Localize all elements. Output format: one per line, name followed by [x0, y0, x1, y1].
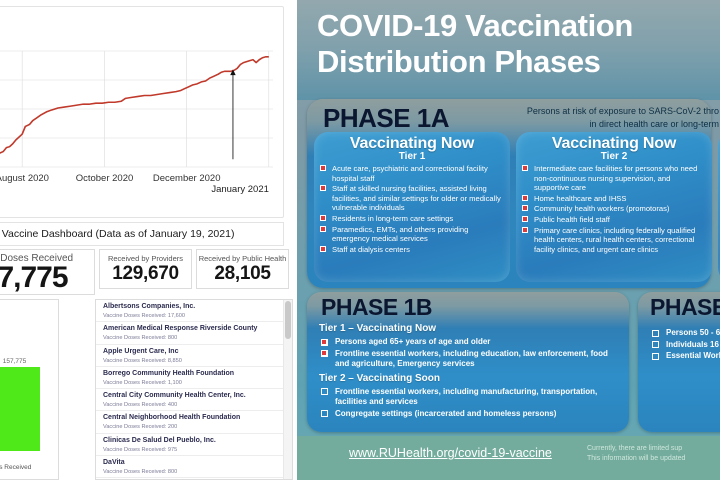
checked-checkbox-icon [320, 185, 326, 191]
checklist-item: Acute care, psychiatric and correctional… [320, 164, 505, 183]
provider-doses: Vaccine Doses Received: 8,850 [103, 357, 279, 365]
provider-name: DaVita [103, 458, 279, 467]
phase-1b-tier2-heading: Tier 2 – Vaccinating Soon [319, 372, 629, 385]
checklist-item: Congregate settings (incarcerated and ho… [321, 409, 621, 420]
tier1-subheading: Tier 1 [314, 151, 510, 162]
list-item[interactable]: Central City Community Health Center, In… [96, 389, 284, 411]
list-item[interactable]: Borrego Community Health Foundation Vacc… [96, 367, 284, 389]
provider-doses: Vaccine Doses Received: 400 [103, 401, 279, 409]
poster-title-line2: Distribution Phases [317, 44, 714, 80]
footer-note-line1: Currently, there are limited sup [587, 444, 685, 454]
kpi-received-by-providers: Received by Providers 129,670 [99, 249, 192, 289]
unchecked-checkbox-icon [652, 341, 659, 348]
checklist-item-label: Congregate settings (incarcerated and ho… [335, 409, 556, 418]
chart-line-series [0, 57, 269, 154]
x-tick-label: August 2020 [0, 173, 49, 184]
phase-1b-tier1-checklist: Persons aged 65+ years of age and older … [307, 337, 629, 370]
scrollbar-thumb[interactable] [285, 301, 291, 339]
phase-1a-card: PHASE 1A Persons at risk of exposure to … [307, 99, 711, 288]
provider-name: Borrego Community Health Foundation [103, 369, 279, 378]
checklist-item: Staff at dialysis centers [320, 245, 505, 255]
checklist-item-label: Frontline essential workers, including e… [335, 349, 608, 369]
phase-1a-tier2-box: Vaccinating Now Tier 2 Intermediate care… [516, 132, 712, 282]
bar-value-label: 157,775 [3, 358, 27, 365]
list-item[interactable]: DaVita Vaccine Doses Received: 800 [96, 456, 284, 478]
checked-checkbox-icon [320, 165, 326, 171]
checked-checkbox-icon [522, 165, 528, 171]
list-item[interactable]: Central Neighborhood Health Foundation V… [96, 411, 284, 433]
unchecked-checkbox-icon [652, 353, 659, 360]
checked-checkbox-icon [522, 205, 528, 211]
checklist-item: Public health field staff [522, 215, 707, 225]
checklist-item-label: Frontline essential workers, including m… [335, 387, 597, 407]
phase-1a-title: PHASE 1A [323, 103, 449, 134]
list-item[interactable]: Apple Urgent Care, Inc Vaccine Doses Rec… [96, 345, 284, 367]
vaccine-info-link[interactable]: www.RUHealth.org/covid-19-vaccine [349, 446, 552, 460]
checked-checkbox-icon [321, 339, 328, 346]
checklist-item: Persons aged 65+ years of age and older [321, 337, 621, 348]
bar-rect [0, 367, 40, 451]
x-tick-label: December 2020 [153, 173, 221, 184]
provider-name: Clinicas De Salud Del Pueblo, Inc. [103, 436, 279, 445]
checklist-item-label: Intermediate care facilities for persons… [534, 164, 697, 192]
kpi-value: 7,775 [0, 261, 94, 295]
kpi-value: 28,105 [197, 263, 288, 285]
phase-1b-title: PHASE 1B [321, 294, 432, 321]
trend-chart-card: e [0, 6, 284, 218]
poster-title: COVID-19 Vaccination Distribution Phases [317, 8, 714, 80]
provider-doses: Vaccine Doses Received: 800 [103, 334, 279, 342]
poster-footer-note: Currently, there are limited sup This in… [587, 444, 685, 464]
checklist-item-label: Persons 50 - 64 ye [666, 328, 720, 337]
checklist-item-label: Essential Workers energy, chemical commu… [666, 351, 720, 360]
checklist-item-label: Persons aged 65+ years of age and older [335, 337, 490, 346]
provider-list-card[interactable]: Albertsons Companies, Inc. Vaccine Doses… [95, 299, 293, 480]
checklist-item: Intermediate care facilities for persons… [522, 164, 707, 193]
list-item[interactable]: Clinicas De Salud Del Pueblo, Inc. Vacci… [96, 434, 284, 456]
provider-name: Central Neighborhood Health Foundation [103, 413, 279, 422]
checked-checkbox-icon [320, 246, 326, 252]
poster-footer: www.RUHealth.org/covid-19-vaccine Curren… [297, 436, 720, 480]
footer-note-line2: This information will be updated [587, 454, 685, 464]
list-item[interactable]: American Medical Response Riverside Coun… [96, 322, 284, 344]
kpi-value: 129,670 [100, 263, 191, 285]
chart-annotation-arrow [230, 69, 235, 159]
checklist-item-label: Individuals 16 - 6 health condition seve… [666, 340, 720, 349]
checklist-item-label: Residents in long-term care settings [332, 214, 453, 223]
chart-plot-area [0, 51, 273, 167]
checklist-item: Residents in long-term care settings [320, 214, 505, 224]
provider-doses: Vaccine Doses Received: 17,600 [103, 312, 279, 320]
checklist-item: Individuals 16 - 6 health condition seve… [652, 340, 720, 351]
checklist-item-label: Paramedics, EMTs, and others providing e… [332, 225, 468, 244]
dashboard-subtitle: 9 Vaccine Dashboard (Data as of January … [0, 228, 234, 240]
provider-doses: Vaccine Doses Received: 975 [103, 446, 279, 454]
phase-1c-card: PHASE 1C Persons 50 - 64 ye Individuals … [638, 292, 720, 432]
checklist-item: Primary care clinics, including federall… [522, 226, 707, 255]
provider-name: Apple Urgent Care, Inc [103, 347, 279, 356]
kpi-received-by-public-health: Received by Public Health 28,105 [196, 249, 289, 289]
provider-list-scrollbar[interactable] [283, 300, 292, 479]
checklist-item-label: Acute care, psychiatric and correctional… [332, 164, 488, 183]
phase-1a-description: Persons at risk of exposure to SARS-CoV-… [479, 105, 719, 131]
provider-doses: Vaccine Doses Received: 800 [103, 468, 279, 476]
screenshot-root: e [0, 0, 720, 480]
bar-axis-caption: ne Doses Received [0, 464, 31, 471]
chart-x-axis: August 2020 October 2020 December 2020 J… [0, 173, 273, 189]
chart-svg [0, 51, 273, 167]
vaccine-dashboard-panel: e [0, 0, 297, 480]
checklist-item-label: Home healthcare and IHSS [534, 194, 626, 203]
chart-annotation-label: January 2021 [211, 184, 269, 195]
list-item[interactable]: Albertsons Companies, Inc. Vaccine Doses… [96, 300, 284, 322]
provider-name: Central City Community Health Center, In… [103, 391, 279, 400]
kpi-total-doses: e Doses Received 7,775 [0, 249, 95, 295]
checklist-item-label: Public health field staff [534, 215, 610, 224]
provider-doses: Vaccine Doses Received: 1,100 [103, 379, 279, 387]
checklist-item-label: Primary care clinics, including federall… [534, 226, 695, 254]
tier2-subheading: Tier 2 [516, 151, 712, 162]
doses-bar-chart-card: 157,775 ne Doses Received [0, 299, 59, 480]
kpi-label: Received by Providers [100, 254, 191, 263]
phase-1b-tier1-heading: Tier 1 – Vaccinating Now [319, 322, 629, 335]
phase-1c-title: PHASE 1C [650, 294, 720, 321]
checked-checkbox-icon [522, 216, 528, 222]
x-tick-label: October 2020 [76, 173, 134, 184]
checklist-item: Essential Workers energy, chemical commu… [652, 351, 720, 362]
checklist-item: Frontline essential workers, including m… [321, 387, 621, 408]
checked-checkbox-icon [321, 350, 328, 357]
checklist-item: Staff at skilled nursing facilities, ass… [320, 184, 505, 213]
tier1-checklist: Acute care, psychiatric and correctional… [314, 164, 510, 254]
vaccination-phases-poster: COVID-19 Vaccination Distribution Phases… [297, 0, 720, 480]
provider-name: American Medical Response Riverside Coun… [103, 324, 279, 333]
checklist-item-label: Staff at dialysis centers [332, 245, 410, 254]
phase-1b-card: PHASE 1B Tier 1 – Vaccinating Now Person… [307, 292, 629, 432]
checklist-item: Community health workers (promotoras) [522, 204, 707, 214]
checked-checkbox-icon [522, 227, 528, 233]
provider-list[interactable]: Albertsons Companies, Inc. Vaccine Doses… [96, 300, 284, 479]
checklist-item: Paramedics, EMTs, and others providing e… [320, 225, 505, 244]
dashboard-subtitle-bar: 9 Vaccine Dashboard (Data as of January … [0, 222, 284, 246]
phase-1a-description-line2: in direct health care or long-term [479, 118, 719, 131]
kpi-label: Received by Public Health [197, 254, 288, 263]
chart-gridlines [0, 51, 273, 167]
checklist-item-label: Community health workers (promotoras) [534, 204, 669, 213]
unchecked-checkbox-icon [321, 388, 328, 395]
unchecked-checkbox-icon [652, 330, 659, 337]
phase-1a-tier1-box: Vaccinating Now Tier 1 Acute care, psych… [314, 132, 510, 282]
checked-checkbox-icon [320, 215, 326, 221]
poster-header: COVID-19 Vaccination Distribution Phases [297, 0, 720, 100]
checklist-item: Persons 50 - 64 ye [652, 328, 720, 339]
provider-doses: Vaccine Doses Received: 200 [103, 423, 279, 431]
phase-1b-tier2-checklist: Frontline essential workers, including m… [307, 387, 629, 420]
checked-checkbox-icon [522, 195, 528, 201]
checklist-item: Home healthcare and IHSS [522, 194, 707, 204]
checklist-item: Frontline essential workers, including e… [321, 349, 621, 370]
unchecked-checkbox-icon [321, 410, 328, 417]
poster-title-line1: COVID-19 Vaccination [317, 8, 633, 43]
checked-checkbox-icon [320, 226, 326, 232]
phase-1c-checklist: Persons 50 - 64 ye Individuals 16 - 6 he… [638, 328, 720, 362]
tier2-checklist: Intermediate care facilities for persons… [516, 164, 712, 254]
phase-1a-description-line1: Persons at risk of exposure to SARS-CoV-… [479, 105, 719, 118]
provider-name: Albertsons Companies, Inc. [103, 302, 279, 311]
checklist-item-label: Staff at skilled nursing facilities, ass… [332, 184, 501, 212]
